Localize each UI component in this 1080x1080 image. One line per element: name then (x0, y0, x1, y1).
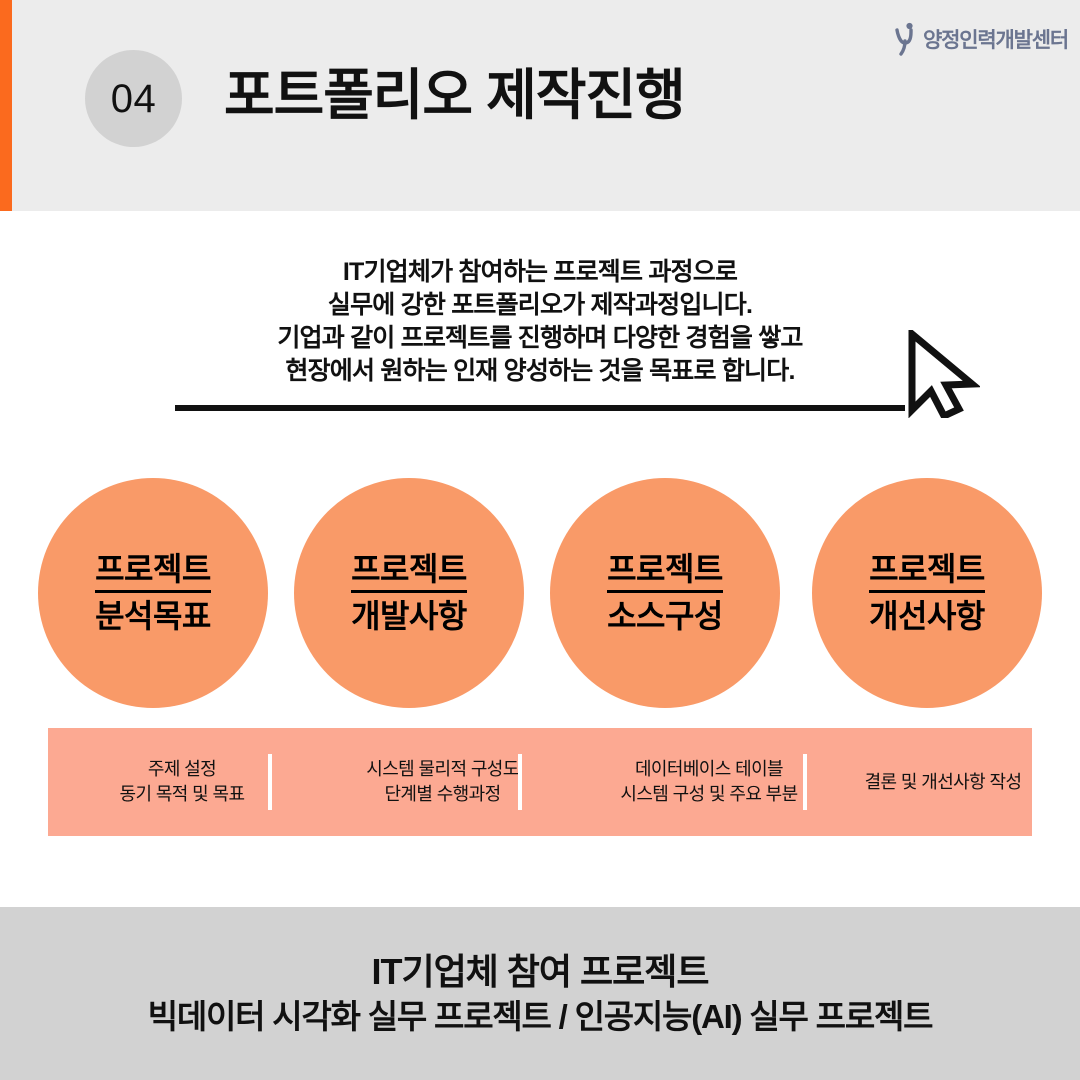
brand-logo: 양정인력개발센터 (892, 22, 1068, 56)
description-line: IT기업체가 참여하는 프로젝트 과정으로 (0, 256, 1080, 289)
detail-text-line2: 단계별 수행과정 (384, 782, 500, 807)
process-circle-line1: 프로젝트 (351, 549, 467, 593)
detail-text-line1: 주제 설정 (148, 757, 216, 782)
process-circle-improvement[interactable]: 프로젝트 개선사항 (812, 478, 1042, 708)
detail-text-line2: 동기 목적 및 목표 (120, 782, 245, 807)
detail-divider (268, 754, 272, 810)
detail-divider (518, 754, 522, 810)
footer-title: IT기업체 참여 프로젝트 (371, 949, 708, 995)
process-circle-line1: 프로젝트 (607, 549, 723, 593)
page-title: 포트폴리오 제작진행 (224, 62, 685, 128)
process-circle-analysis[interactable]: 프로젝트 분석목표 (38, 478, 268, 708)
step-number-label: 04 (111, 79, 157, 119)
process-circle-development[interactable]: 프로젝트 개발사항 (294, 478, 524, 708)
process-circle-line1: 프로젝트 (95, 549, 211, 593)
process-circle-line2: 개발사항 (351, 595, 467, 637)
brand-logo-text: 양정인력개발센터 (923, 24, 1068, 54)
detail-cell-source: 데이터베이스 테이블 시스템 구성 및 주요 부분 (569, 728, 849, 836)
page-header: 04 포트폴리오 제작진행 양정인력개발센터 (0, 0, 1080, 211)
process-circles-group: 프로젝트 분석목표 프로젝트 개발사항 프로젝트 소스구성 프로젝트 개선사항 (0, 478, 1080, 708)
detail-cell-improvement: 결론 및 개선사항 작성 (854, 728, 1032, 836)
description-underline-rule (175, 405, 905, 411)
detail-cell-analysis: 주제 설정 동기 목적 및 목표 (48, 728, 316, 836)
orange-accent-bar (0, 0, 12, 211)
y-figure-mark-icon (892, 22, 918, 56)
process-circle-line2: 개선사항 (869, 595, 985, 637)
detail-text-line1: 데이터베이스 테이블 (635, 757, 783, 782)
mouse-pointer-icon (906, 330, 980, 418)
step-number-badge: 04 (85, 50, 182, 147)
process-circle-line1: 프로젝트 (869, 549, 985, 593)
description-line: 실무에 강한 포트폴리오가 제작과정입니다. (0, 289, 1080, 322)
detail-text-line2: 시스템 구성 및 주요 부분 (620, 782, 797, 807)
detail-text-line1: 결론 및 개선사항 작성 (865, 770, 1022, 795)
detail-divider (803, 754, 807, 810)
process-circle-source[interactable]: 프로젝트 소스구성 (550, 478, 780, 708)
process-circle-line2: 분석목표 (95, 595, 211, 637)
page-footer: IT기업체 참여 프로젝트 빅데이터 시각화 실무 프로젝트 / 인공지능(AI… (0, 907, 1080, 1080)
process-detail-bar: 주제 설정 동기 목적 및 목표 시스템 물리적 구성도 단계별 수행과정 데이… (48, 728, 1032, 836)
footer-subtitle: 빅데이터 시각화 실무 프로젝트 / 인공지능(AI) 실무 프로젝트 (148, 995, 933, 1039)
process-circle-line2: 소스구성 (607, 595, 723, 637)
detail-cell-development: 시스템 물리적 구성도 단계별 수행과정 (321, 728, 564, 836)
detail-text-line1: 시스템 물리적 구성도 (366, 757, 518, 782)
